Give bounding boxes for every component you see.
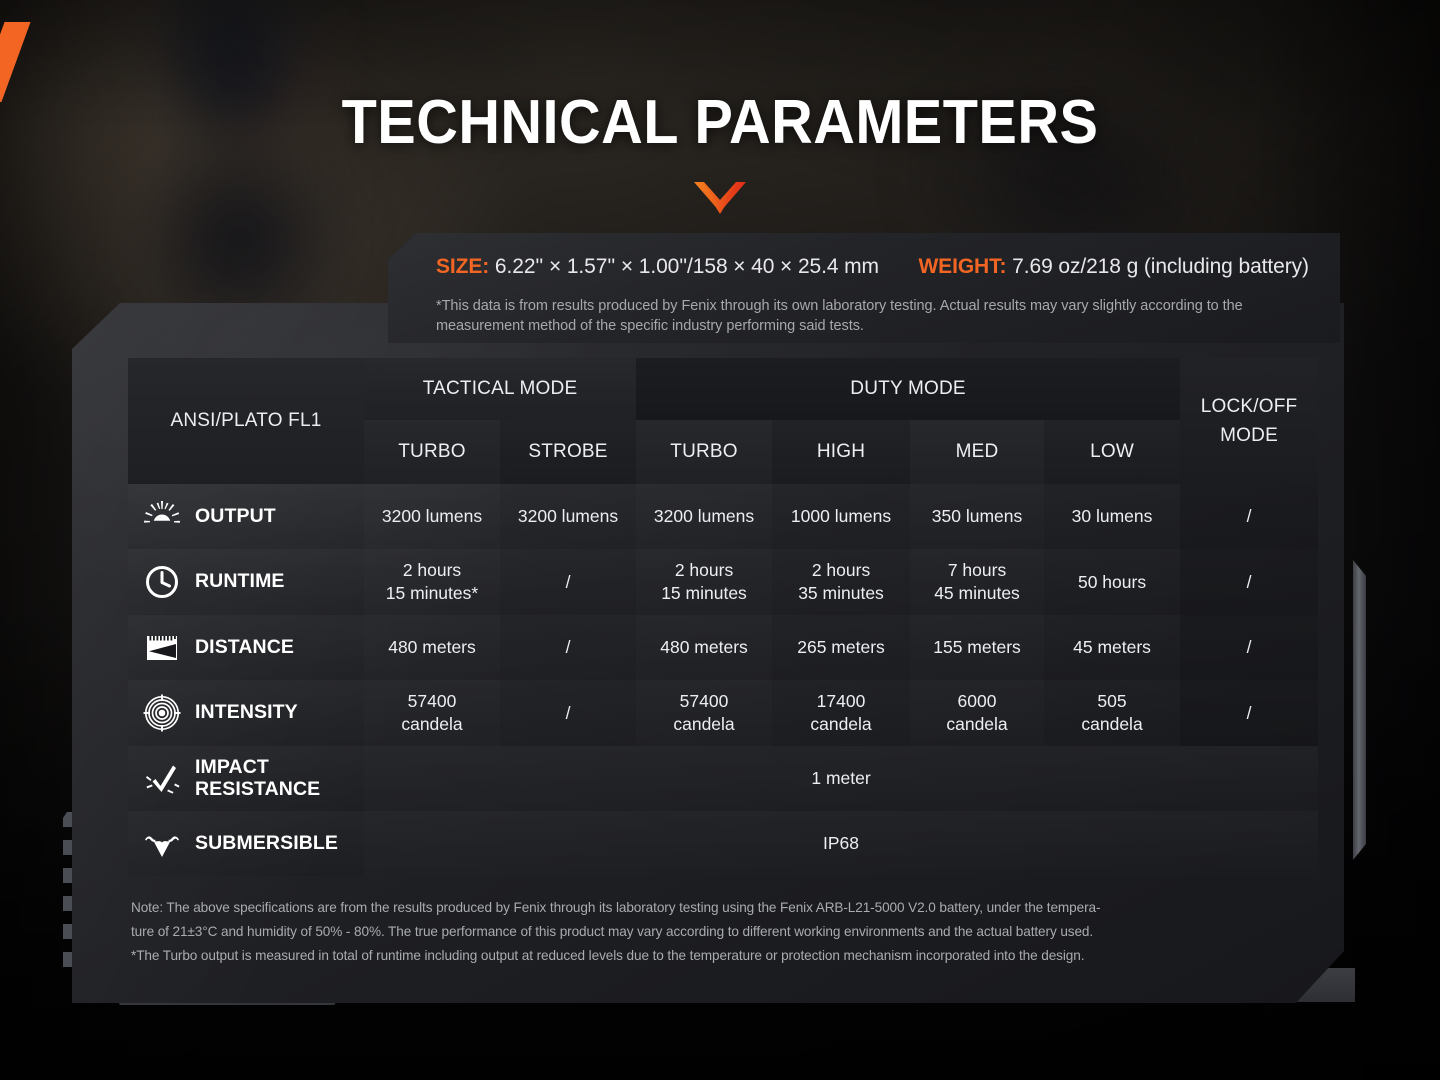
lock-off-line2: MODE xyxy=(1220,425,1278,446)
lock-off-line1: LOCK/OFF xyxy=(1201,396,1298,417)
table-row: OUTPUT 3200 lumens 3200 lumens 3200 lume… xyxy=(128,484,1318,549)
cell-distance-duty-turbo: 480 meters xyxy=(636,615,772,680)
banner-disclaimer: *This data is from results produced by F… xyxy=(436,297,1330,336)
footnote-line-2: ture of 21±3°C and humidity of 50% - 80%… xyxy=(131,920,1336,944)
cell-runtime-tactical-strobe: / xyxy=(500,549,636,615)
table-header-group-row: ANSI/PLATO FL1 TACTICAL MODE DUTY MODE L… xyxy=(128,358,1318,420)
cell-output-tactical-turbo: 3200 lumens xyxy=(364,484,500,549)
footnote-block: Note: The above specifications are from … xyxy=(131,896,1336,969)
weight-value: 7.69 oz/218 g (including battery) xyxy=(1012,255,1309,278)
clock-icon xyxy=(142,562,182,602)
footnote-line-3: *The Turbo output is measured in total o… xyxy=(131,944,1336,968)
column-header-duty-med: MED xyxy=(910,420,1044,484)
cell-distance-duty-low: 45 meters xyxy=(1044,615,1180,680)
cell-intensity-tactical-turbo: 57400candela xyxy=(364,680,500,746)
cell-intensity-duty-low: 505candela xyxy=(1044,680,1180,746)
row-label-text: RUNTIME xyxy=(195,571,285,593)
row-label-runtime: RUNTIME xyxy=(128,549,364,615)
table-row: IMPACTRESISTANCE 1 meter xyxy=(128,746,1318,811)
page-title: TECHNICAL PARAMETERS xyxy=(50,92,1389,154)
table-row: RUNTIME 2 hours15 minutes* / 2 hours15 m… xyxy=(128,549,1318,615)
specifications-table: ANSI/PLATO FL1 TACTICAL MODE DUTY MODE L… xyxy=(128,358,1318,876)
row-label-text: SUBMERSIBLE xyxy=(195,833,338,855)
column-header-duty-turbo: TURBO xyxy=(636,420,772,484)
row-label-output: OUTPUT xyxy=(128,484,364,549)
cell-distance-tactical-turbo: 480 meters xyxy=(364,615,500,680)
cell-distance-tactical-strobe: / xyxy=(500,615,636,680)
cell-output-duty-high: 1000 lumens xyxy=(772,484,910,549)
cell-runtime-duty-high: 2 hours35 minutes xyxy=(772,549,910,615)
target-icon xyxy=(142,693,182,733)
column-header-tactical-strobe: STROBE xyxy=(500,420,636,484)
footnote-line-1: Note: The above specifications are from … xyxy=(131,896,1336,920)
group-header-lock-off: LOCK/OFF MODE xyxy=(1180,358,1318,484)
group-header-duty: DUTY MODE xyxy=(636,358,1180,420)
sunburst-icon xyxy=(142,497,182,537)
cell-intensity-duty-high: 17400candela xyxy=(772,680,910,746)
cell-runtime-duty-med: 7 hours45 minutes xyxy=(910,549,1044,615)
size-weight-line: SIZE: 6.22'' × 1.57'' × 1.00''/158 × 40 … xyxy=(436,255,1332,279)
row-label-text: DISTANCE xyxy=(195,637,294,659)
cell-intensity-duty-turbo: 57400candela xyxy=(636,680,772,746)
cell-impact-resistance-value: 1 meter xyxy=(364,746,1318,811)
row-label-text: INTENSITY xyxy=(195,702,298,724)
column-header-tactical-turbo: TURBO xyxy=(364,420,500,484)
cell-distance-lock: / xyxy=(1180,615,1318,680)
cell-intensity-lock: / xyxy=(1180,680,1318,746)
cell-intensity-duty-med: 6000candela xyxy=(910,680,1044,746)
size-value: 6.22'' × 1.57'' × 1.00''/158 × 40 × 25.4… xyxy=(495,255,879,278)
cell-runtime-duty-low: 50 hours xyxy=(1044,549,1180,615)
cell-output-duty-med: 350 lumens xyxy=(910,484,1044,549)
ansi-plato-label: ANSI/PLATO FL1 xyxy=(128,358,364,484)
cell-output-duty-turbo: 3200 lumens xyxy=(636,484,772,549)
cell-distance-duty-med: 155 meters xyxy=(910,615,1044,680)
cell-runtime-duty-turbo: 2 hours15 minutes xyxy=(636,549,772,615)
row-label-impact-resistance: IMPACTRESISTANCE xyxy=(128,746,364,811)
cell-output-duty-low: 30 lumens xyxy=(1044,484,1180,549)
cell-distance-duty-high: 265 meters xyxy=(772,615,910,680)
chevron-down-icon xyxy=(692,180,748,214)
column-header-duty-high: HIGH xyxy=(772,420,910,484)
cell-intensity-tactical-strobe: / xyxy=(500,680,636,746)
column-header-duty-low: LOW xyxy=(1044,420,1180,484)
size-label: SIZE: xyxy=(436,255,489,278)
row-label-distance: DISTANCE xyxy=(128,615,364,680)
impact-check-icon xyxy=(142,759,182,799)
row-label-text: IMPACTRESISTANCE xyxy=(195,757,320,801)
group-header-tactical: TACTICAL MODE xyxy=(364,358,636,420)
cell-runtime-lock: / xyxy=(1180,549,1318,615)
row-label-text: OUTPUT xyxy=(195,506,276,528)
right-edge-accent-bar xyxy=(1353,560,1366,860)
table-row: SUBMERSIBLE IP68 xyxy=(128,811,1318,876)
beam-ruler-icon xyxy=(142,628,182,668)
table-row: DISTANCE 480 meters / 480 meters 265 met… xyxy=(128,615,1318,680)
size-weight-banner: SIZE: 6.22'' × 1.57'' × 1.00''/158 × 40 … xyxy=(388,233,1340,343)
row-label-submersible: SUBMERSIBLE xyxy=(128,811,364,876)
cell-output-tactical-strobe: 3200 lumens xyxy=(500,484,636,549)
row-label-intensity: INTENSITY xyxy=(128,680,364,746)
cell-output-lock: / xyxy=(1180,484,1318,549)
water-drop-icon xyxy=(142,824,182,864)
weight-label: WEIGHT: xyxy=(918,255,1006,278)
title-block: TECHNICAL PARAMETERS xyxy=(0,92,1440,214)
cell-submersible-value: IP68 xyxy=(364,811,1318,876)
table-row: INTENSITY 57400candela / 57400candela 17… xyxy=(128,680,1318,746)
cell-runtime-tactical-turbo: 2 hours15 minutes* xyxy=(364,549,500,615)
